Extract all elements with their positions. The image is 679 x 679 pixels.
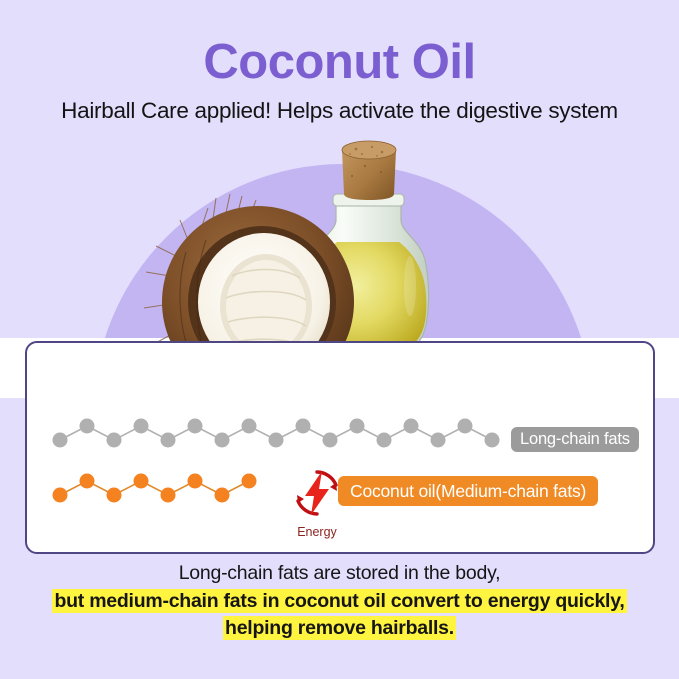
legend-medium-chain-fats: Coconut oil(Medium-chain fats) (338, 476, 598, 506)
footer-line-2-text: but medium-chain fats in coconut oil con… (52, 589, 626, 613)
long-chain-nodes (53, 419, 500, 448)
footer-copy: Long-chain fats are stored in the body, … (0, 560, 679, 643)
footer-line-3: helping remove hairballs. (0, 615, 679, 643)
header: Coconut Oil Hairball Care applied! Helps… (0, 0, 679, 124)
legend-long-chain-fats: Long-chain fats (511, 427, 639, 452)
fat-chain-comparison-card: Energy Long-chain fats Coconut oil(Mediu… (25, 341, 655, 554)
footer-line-1: Long-chain fats are stored in the body, (0, 560, 679, 588)
page-subtitle: Hairball Care applied! Helps activate th… (0, 98, 679, 124)
page-title: Coconut Oil (0, 36, 679, 89)
lightning-bolt-recycle-icon (291, 467, 343, 519)
footer-line-2: but medium-chain fats in coconut oil con… (0, 588, 679, 616)
footer-line-3-text: helping remove hairballs. (223, 616, 456, 640)
energy-label: Energy (284, 525, 350, 539)
